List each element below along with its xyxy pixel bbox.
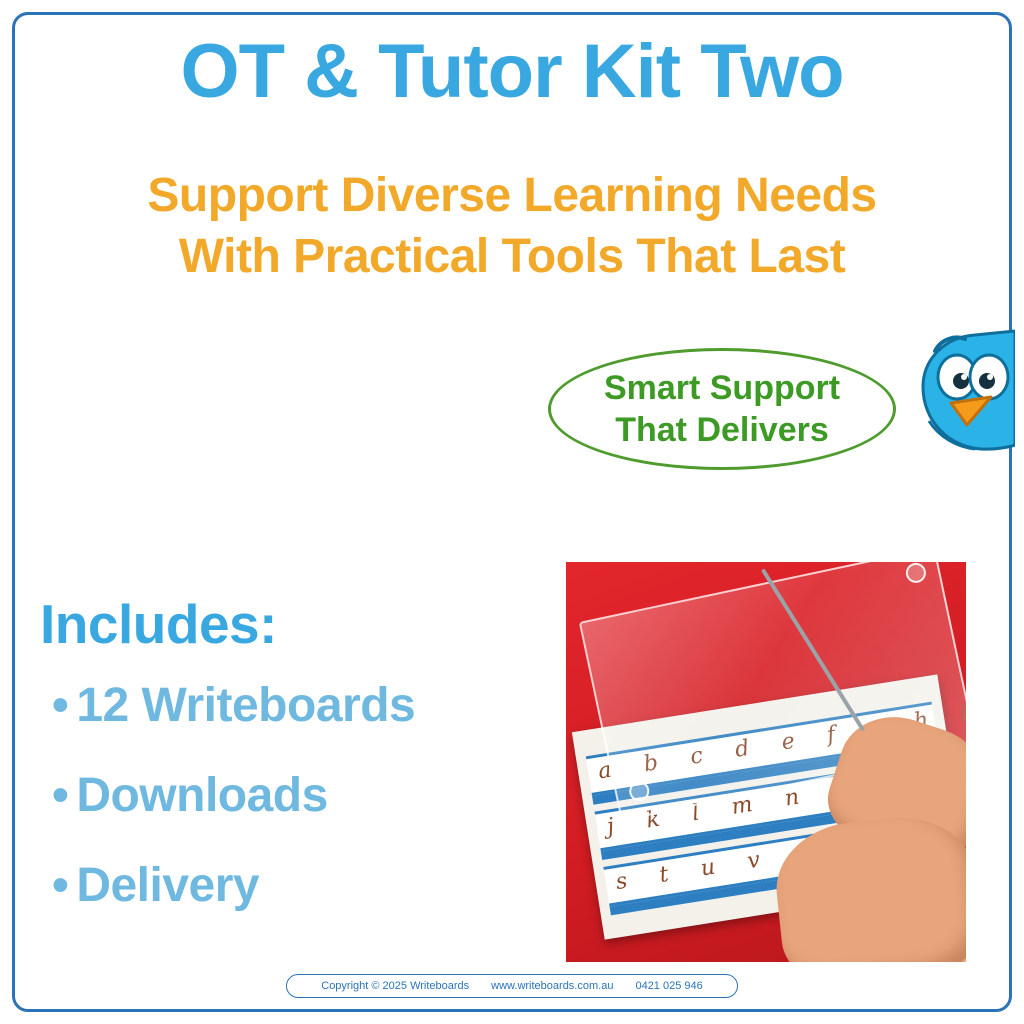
writeboard-hole	[627, 779, 651, 803]
subtitle-line-2: With Practical Tools That Last	[0, 226, 1024, 287]
list-item: •Delivery	[52, 862, 552, 910]
writeboard-hole	[904, 562, 928, 585]
list-item: •12 Writeboards	[52, 682, 552, 730]
footer-copyright: Copyright © 2025 Writeboards	[321, 980, 469, 992]
list-item-label: 12 Writeboards	[76, 679, 415, 732]
bullet-marker-icon: •	[52, 772, 68, 820]
product-photo: a b c d e f g h i j k l m n o p q r s t …	[566, 562, 966, 962]
bird-mascot-icon	[905, 325, 1015, 475]
bullet-marker-icon: •	[52, 862, 68, 910]
list-item-label: Downloads	[76, 769, 328, 822]
page-title: OT & Tutor Kit Two	[0, 32, 1024, 112]
status-badge: Smart Support That Delivers	[548, 348, 896, 470]
footer-website[interactable]: www.writeboards.com.au	[491, 980, 613, 992]
page-subtitle: Support Diverse Learning Needs With Prac…	[0, 165, 1024, 288]
subtitle-line-1: Support Diverse Learning Needs	[147, 169, 876, 222]
footer-phone: 0421 025 946	[635, 980, 702, 992]
includes-heading: Includes:	[40, 592, 277, 656]
poster-canvas: OT & Tutor Kit Two Support Diverse Learn…	[0, 0, 1024, 1024]
badge-line-1: Smart Support	[604, 367, 840, 410]
list-item: •Downloads	[52, 772, 552, 820]
bullet-marker-icon: •	[52, 682, 68, 730]
includes-list: •12 Writeboards •Downloads •Delivery	[52, 682, 552, 952]
badge-line-2: That Delivers	[615, 409, 829, 452]
footer-bar: Copyright © 2025 Writeboards www.writebo…	[286, 974, 738, 998]
list-item-label: Delivery	[76, 859, 259, 912]
